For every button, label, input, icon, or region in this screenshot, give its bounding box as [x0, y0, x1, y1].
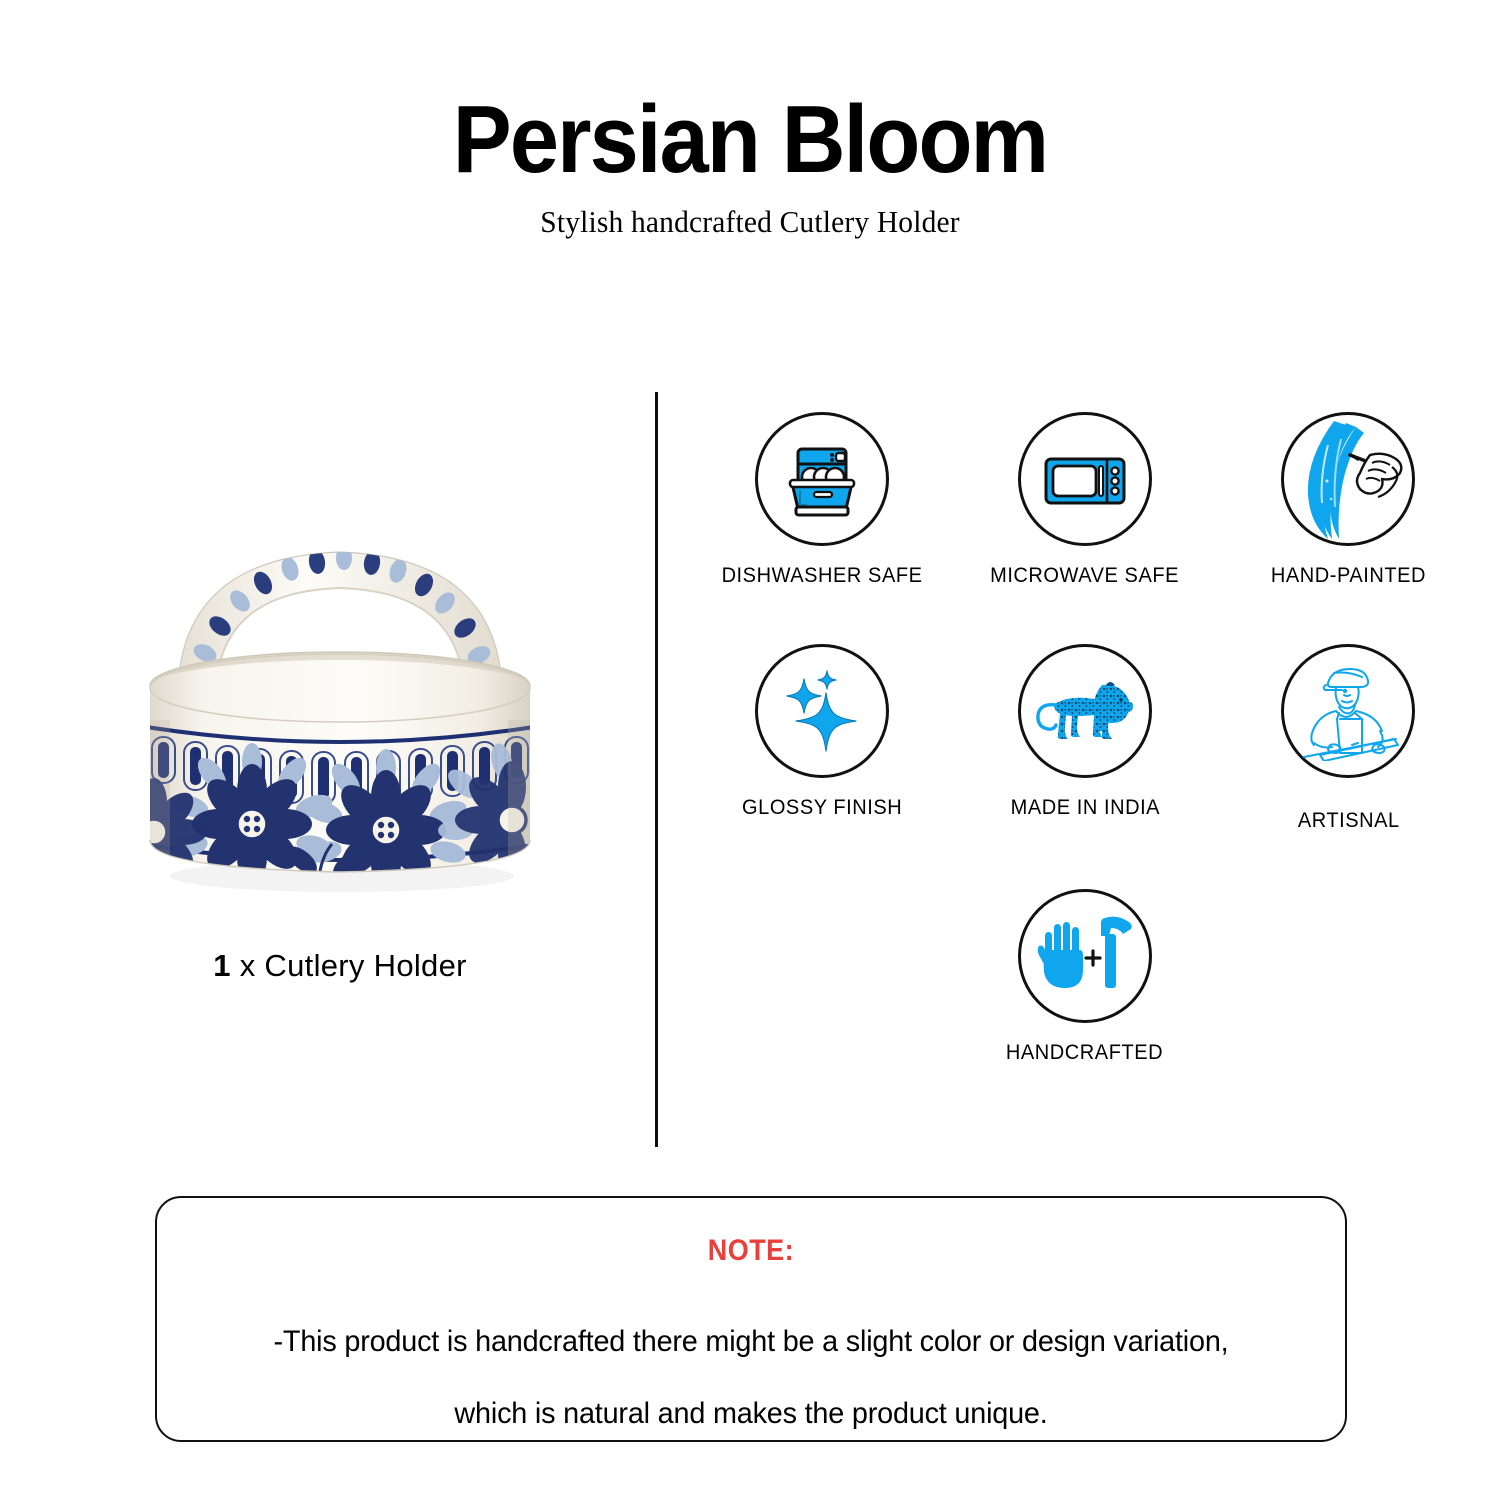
- page-subtitle: Stylish handcrafted Cutlery Holder: [38, 204, 1463, 240]
- product-caption-text: x Cutlery Holder: [231, 948, 467, 983]
- feature-label: ARTISNAL: [1297, 808, 1399, 833]
- note-box: NOTE: -This product is handcrafted there…: [155, 1196, 1347, 1442]
- note-title: NOTE:: [708, 1234, 794, 1268]
- feature-label: GLOSSY FINISH: [742, 795, 902, 820]
- product-image: [80, 440, 600, 930]
- badge-circle: [1281, 644, 1415, 778]
- feature-badge-glossy-finish[interactable]: GLOSSY FINISH: [690, 644, 953, 833]
- badge-circle: [1018, 889, 1152, 1023]
- product-panel: 1 x Cutlery Holder: [60, 440, 620, 984]
- product-quantity: 1: [213, 948, 231, 983]
- hand-painted-brush-icon: [1284, 415, 1412, 543]
- feature-label: DISHWASHER SAFE: [721, 563, 922, 588]
- note-line-1: -This product is handcrafted there might…: [181, 1325, 1321, 1359]
- badge-circle: [1281, 412, 1415, 546]
- hand-plus-hammer-icon: [1035, 910, 1135, 1002]
- microwave-icon: [1037, 431, 1133, 527]
- sparkle-icon: [776, 665, 868, 757]
- badge-circle: [755, 644, 889, 778]
- feature-badge-grid: DISHWASHER SAFE MICROWAVE SAFE: [690, 412, 1480, 1065]
- feature-badge-microwave-safe[interactable]: MICROWAVE SAFE: [953, 412, 1216, 588]
- feature-label: HANDCRAFTED: [1006, 1040, 1163, 1065]
- feature-badge-artisnal[interactable]: ARTISNAL: [1217, 644, 1480, 833]
- note-line-2: which is natural and makes the product u…: [181, 1397, 1321, 1431]
- feature-badge-hand-painted[interactable]: HAND-PAINTED: [1217, 412, 1480, 588]
- feature-label: MICROWAVE SAFE: [991, 563, 1180, 588]
- lion-icon: [1032, 673, 1138, 749]
- feature-label: MADE IN INDIA: [1010, 795, 1159, 820]
- page-title: Persian Bloom: [60, 92, 1440, 188]
- badge-circle: [755, 412, 889, 546]
- vertical-divider: [655, 392, 658, 1147]
- product-caption: 1 x Cutlery Holder: [60, 948, 620, 984]
- badge-circle: [1018, 644, 1152, 778]
- feature-badge-handcrafted[interactable]: HANDCRAFTED: [953, 889, 1216, 1065]
- feature-badge-made-in-india[interactable]: MADE IN INDIA: [953, 644, 1216, 833]
- basket-body: [140, 652, 542, 902]
- badge-circle: [1018, 412, 1152, 546]
- feature-badge-dishwasher-safe[interactable]: DISHWASHER SAFE: [690, 412, 953, 588]
- feature-label: HAND-PAINTED: [1271, 563, 1426, 588]
- dishwasher-icon: [776, 433, 868, 525]
- artisan-craftsman-icon: [1292, 661, 1404, 761]
- header: Persian Bloom Stylish handcrafted Cutler…: [0, 0, 1500, 240]
